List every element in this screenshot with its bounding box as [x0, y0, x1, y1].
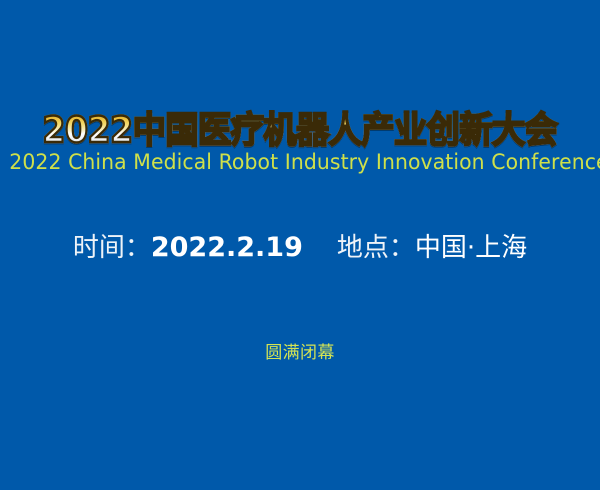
status-badge: 圆满闭幕	[265, 343, 335, 363]
location-label: 地点：	[337, 233, 415, 263]
location-value: 中国·上海	[415, 233, 527, 263]
conference-banner: 2022中国医疗机器人产业创新大会 2022 China Medical Rob…	[0, 0, 600, 490]
conference-title: 2022中国医疗机器人产业创新大会	[43, 113, 558, 149]
time-value: 2022.2.19	[151, 232, 303, 263]
headline-container: 2022中国医疗机器人产业创新大会	[0, 113, 600, 149]
event-meta-line: 时间：2022.2.19地点：中国·上海	[0, 234, 600, 261]
subtitle-container: 2022 China Medical Robot Industry Innova…	[0, 152, 600, 173]
status-container: 圆满闭幕	[0, 345, 600, 362]
conference-subtitle-english: 2022 China Medical Robot Industry Innova…	[9, 152, 600, 173]
time-label: 时间：	[73, 233, 151, 263]
